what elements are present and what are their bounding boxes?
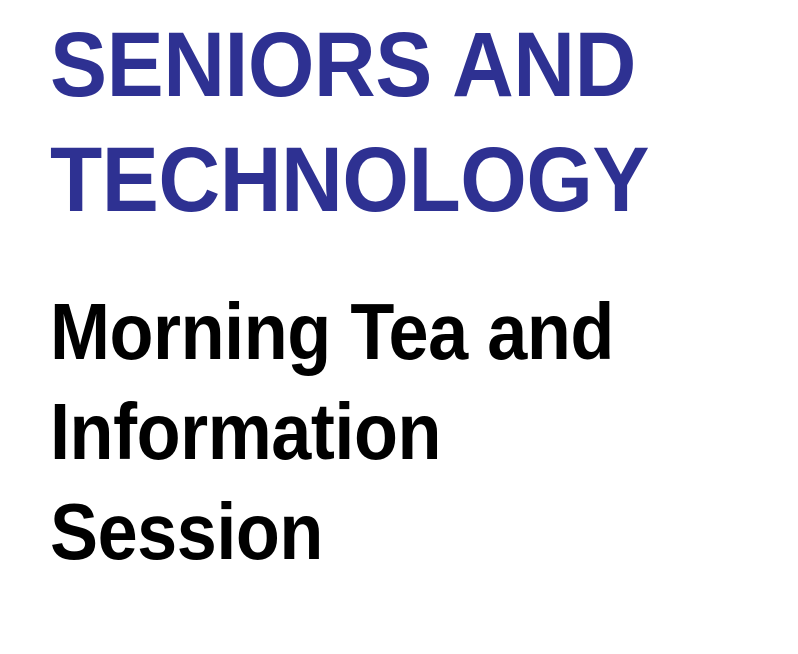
subtitle-line-3: Session — [50, 482, 698, 582]
subtitle-line-2: Information — [50, 382, 698, 482]
heading-line-2: TECHNOLOGY — [50, 123, 701, 238]
poster-canvas: SENIORS AND TECHNOLOGY Morning Tea and I… — [0, 0, 798, 654]
poster-subtitle: Morning Tea and Information Session — [50, 282, 770, 582]
heading-line-1: SENIORS AND — [50, 8, 701, 123]
poster-heading: SENIORS AND TECHNOLOGY — [50, 8, 750, 238]
subtitle-line-1: Morning Tea and — [50, 282, 698, 382]
